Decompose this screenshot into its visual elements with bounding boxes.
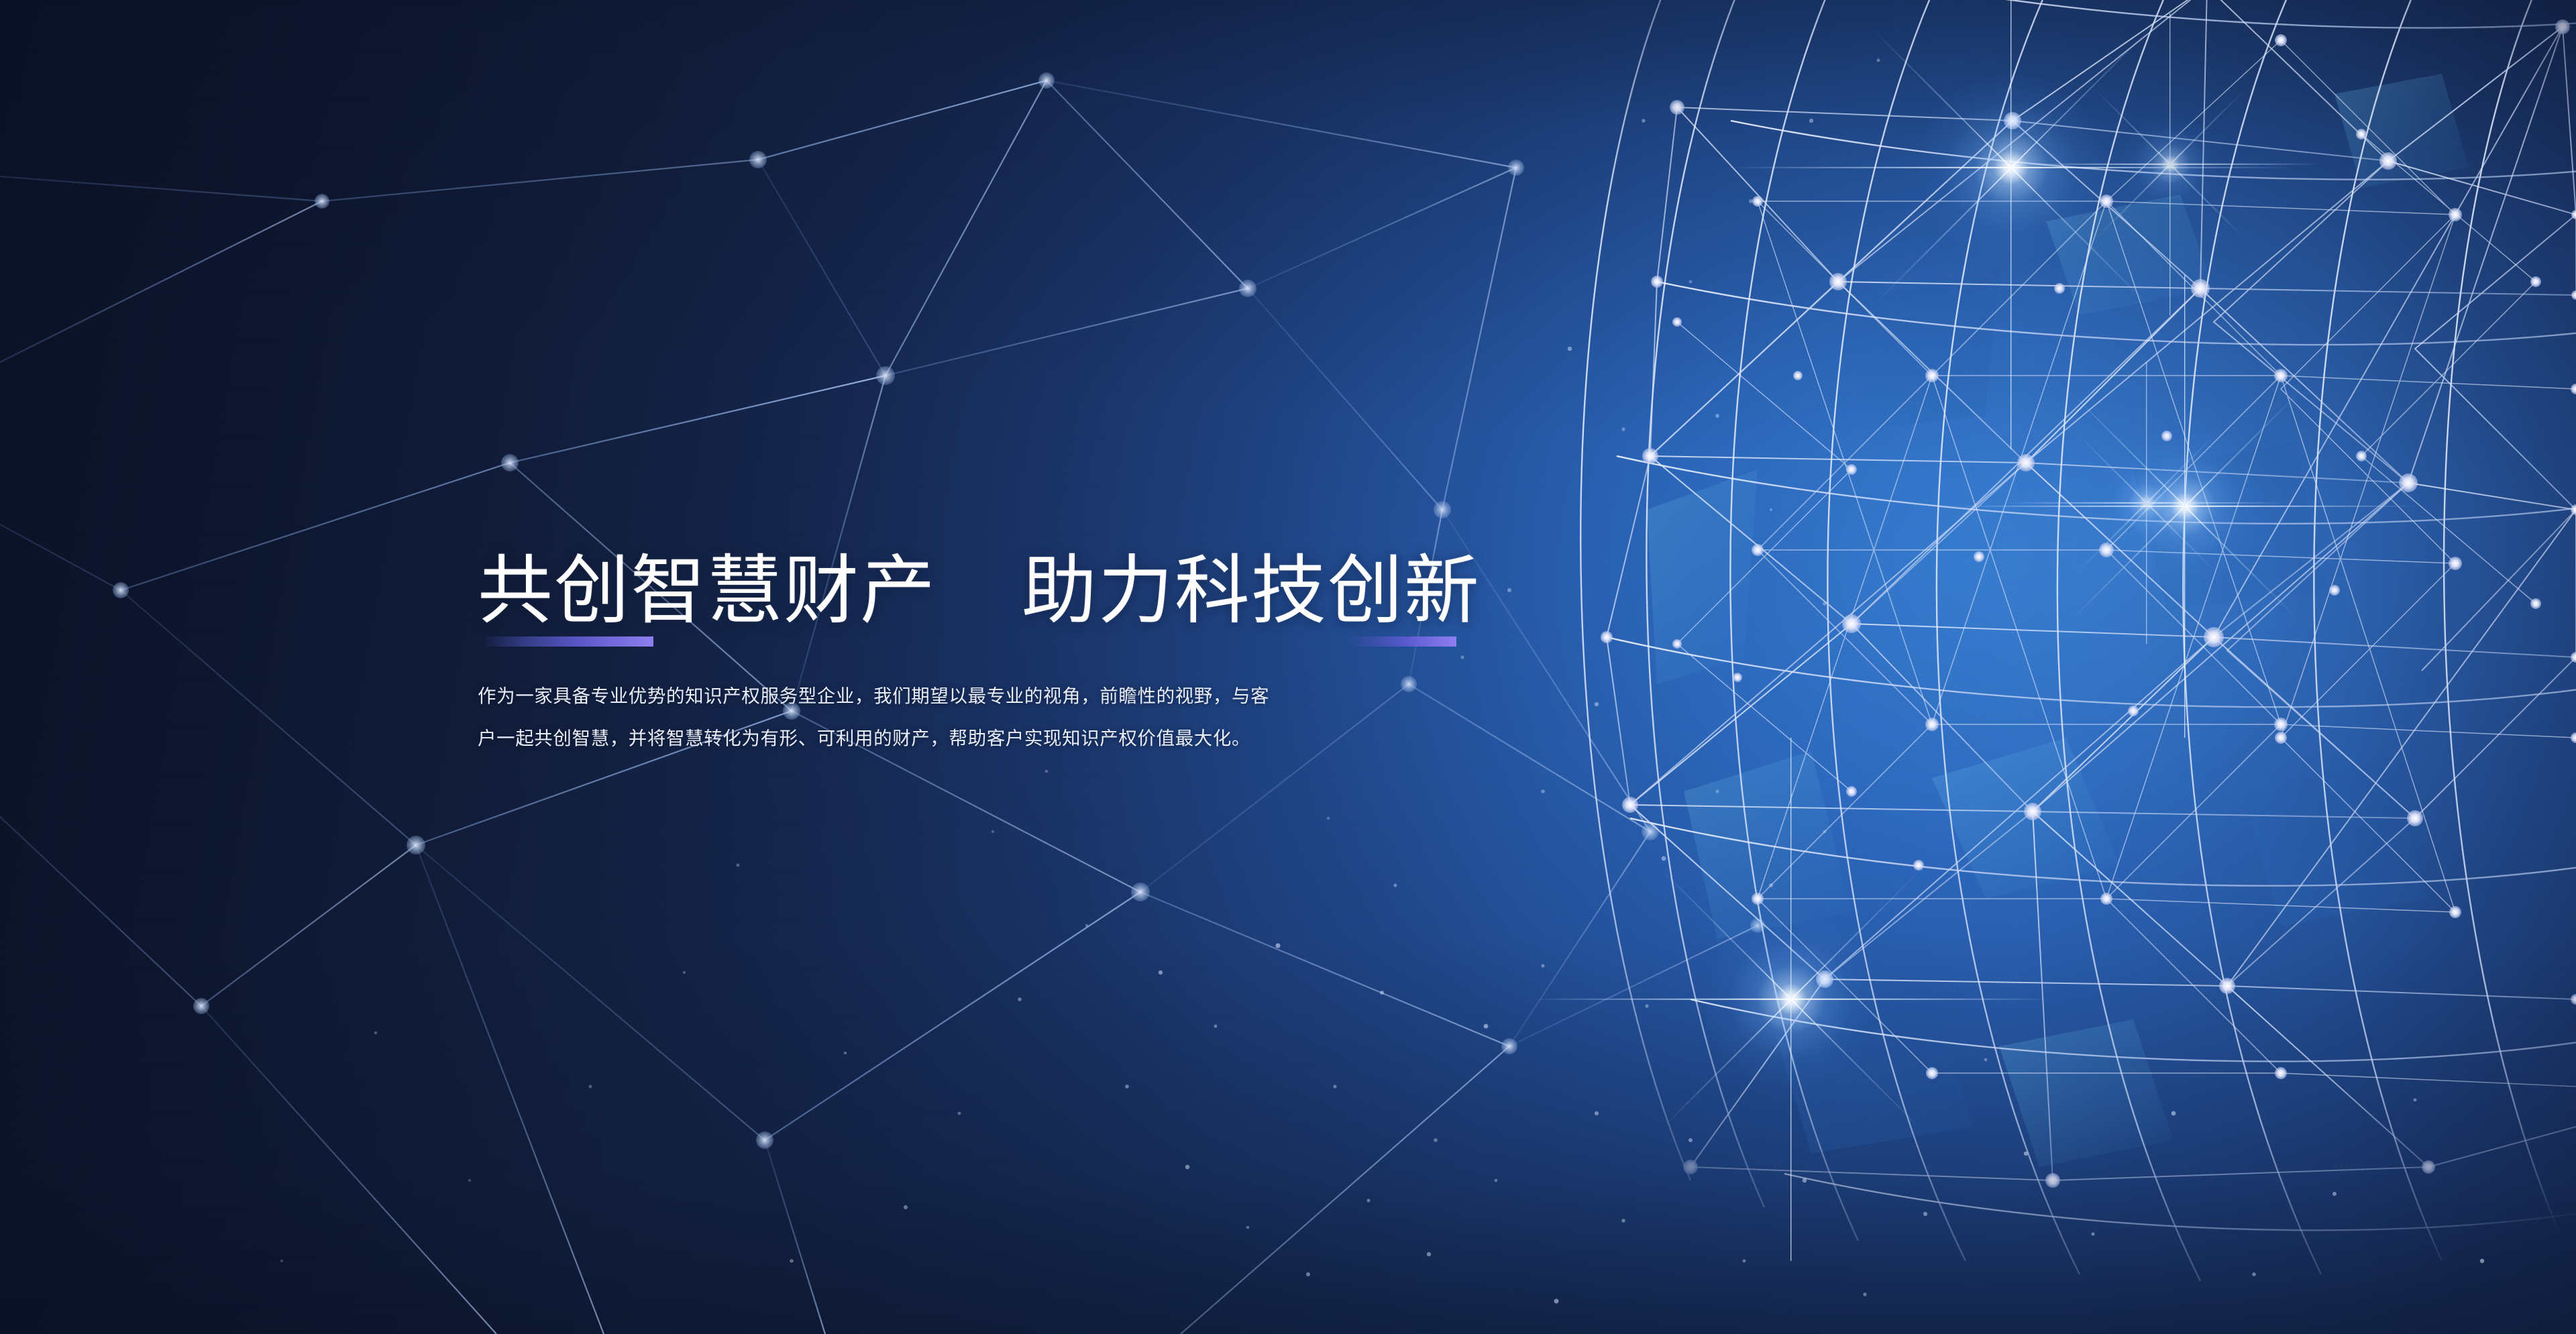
headline-phrase-2: 助力科技创新 bbox=[1022, 541, 1481, 641]
hero-banner: 共创智慧财产 助力科技创新 作为一家具备专业优势的知识产权服务型企业，我们期望以… bbox=[0, 0, 2576, 1334]
accent-underline-bar bbox=[1349, 636, 1456, 647]
headline-phrase-1: 共创智慧财产 bbox=[478, 541, 936, 641]
page-title: 共创智慧财产 助力科技创新 bbox=[478, 541, 1484, 641]
hero-description: 作为一家具备专业优势的知识产权服务型企业，我们期望以最专业的视角，前瞻性的视野，… bbox=[478, 675, 1273, 759]
hero-copy-block: 共创智慧财产 助力科技创新 作为一家具备专业优势的知识产权服务型企业，我们期望以… bbox=[478, 541, 1484, 778]
accent-underline-bar bbox=[484, 636, 653, 647]
